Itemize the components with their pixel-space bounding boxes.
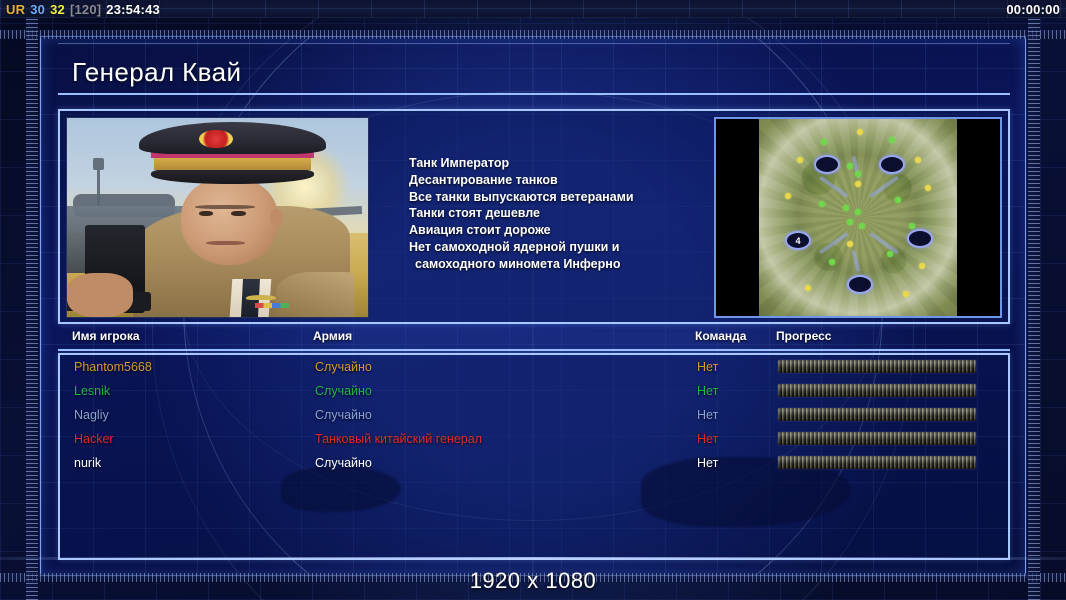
table-row[interactable]: NagliyСлучайноНет xyxy=(60,403,1008,427)
latency-value: 32 xyxy=(50,2,65,17)
frame-limit: [120] xyxy=(70,2,101,17)
resolution-label: 1920 x 1080 xyxy=(0,568,1066,594)
ur-label: UR xyxy=(6,2,25,17)
bonus-line: Нет самоходной ядерной пушки и xyxy=(409,239,739,256)
player-army: Случайно xyxy=(315,360,372,374)
player-name: Phantom5668 xyxy=(74,360,152,374)
player-progress-bar xyxy=(778,432,976,445)
portrait-brow xyxy=(195,205,255,209)
portrait-cap-band xyxy=(154,156,311,170)
map-start-position-4: 4 xyxy=(785,231,811,250)
player-name: Nagliy xyxy=(74,408,109,422)
portrait-shoulder xyxy=(276,272,354,317)
map-start-label: 4 xyxy=(795,236,800,246)
title-bar: Генерал Квай xyxy=(58,51,1010,95)
column-header-army: Армия xyxy=(313,329,352,343)
player-progress-bar xyxy=(778,456,976,469)
map-resource xyxy=(895,197,901,203)
column-header-progress: Прогресс xyxy=(776,329,831,343)
map-resource xyxy=(785,193,791,199)
map-start-position xyxy=(814,155,840,174)
portrait-hand xyxy=(67,273,133,317)
map-resource xyxy=(805,285,811,291)
map-resource xyxy=(855,209,861,215)
player-name: nurik xyxy=(74,456,101,470)
player-army: Случайно xyxy=(315,456,372,470)
portrait-eye-left xyxy=(199,211,213,216)
map-resource xyxy=(829,259,835,265)
bonus-line: Все танки выпускаются ветеранами xyxy=(409,189,739,206)
bonus-line: Десантирование танков xyxy=(409,172,739,189)
player-team: Нет xyxy=(697,408,718,422)
table-row[interactable]: Phantom5668СлучайноНет xyxy=(60,355,1008,379)
map-start-position xyxy=(847,275,873,294)
map-start-position xyxy=(907,229,933,248)
ruler-left xyxy=(26,18,38,600)
map-resource xyxy=(857,129,863,135)
page-title: Генерал Квай xyxy=(58,57,241,88)
player-rows: Phantom5668СлучайноНетLesnikСлучайноНетN… xyxy=(60,355,1008,475)
column-header-name: Имя игрока xyxy=(72,329,140,343)
map-resource xyxy=(909,223,915,229)
table-row[interactable]: LesnikСлучайноНет xyxy=(60,379,1008,403)
player-team: Нет xyxy=(697,384,718,398)
map-resource xyxy=(915,157,921,163)
portrait-cap-emblem xyxy=(199,130,232,148)
table-row[interactable]: HackerТанковый китайский генералНет xyxy=(60,427,1008,451)
portrait-ear xyxy=(270,209,283,227)
map-resource xyxy=(855,171,861,177)
map-resource xyxy=(847,241,853,247)
map-resource xyxy=(919,263,925,269)
map-resource xyxy=(889,137,895,143)
system-clock: 23:54:43 xyxy=(106,2,160,17)
player-army: Танковый китайский генерал xyxy=(315,432,482,446)
outer-frame: Генерал Квай xyxy=(0,18,1066,600)
portrait-wing-badge xyxy=(246,295,276,301)
player-list-header: Имя игрока Армия Команда Прогресс xyxy=(58,329,1010,351)
map-resource xyxy=(819,201,825,207)
map-resource xyxy=(855,181,861,187)
bonus-line: самоходного миномета Инферно xyxy=(409,256,739,273)
general-bonus-list: Танк Император Десантирование танков Все… xyxy=(409,155,739,273)
map-start-position xyxy=(879,155,905,174)
player-army: Случайно xyxy=(315,384,372,398)
table-row[interactable]: nurikСлучайноНет xyxy=(60,451,1008,475)
player-team: Нет xyxy=(697,360,718,374)
map-resource xyxy=(843,205,849,211)
column-header-team: Команда xyxy=(695,329,746,343)
player-progress-bar xyxy=(778,384,976,397)
map-resource xyxy=(925,185,931,191)
general-portrait xyxy=(66,117,369,318)
map-resource xyxy=(887,251,893,257)
footer-divider xyxy=(0,557,1066,560)
portrait-mouth xyxy=(206,241,245,245)
player-progress-bar xyxy=(778,360,976,373)
bonus-line: Авиация стоит дороже xyxy=(409,222,739,239)
map-resource xyxy=(821,139,827,145)
portrait-medal-bar xyxy=(255,303,290,309)
fps-value: 30 xyxy=(30,2,45,17)
elapsed-timer: 00:00:00 xyxy=(1006,2,1060,17)
top-status-bar: UR 30 32 [120] 23:54:43 00:00:00 xyxy=(0,0,1066,18)
player-name: Hacker xyxy=(74,432,114,446)
player-team: Нет xyxy=(697,456,718,470)
general-info-panel: Танк Император Десантирование танков Все… xyxy=(58,109,1010,324)
map-preview[interactable]: 4 xyxy=(714,117,1002,318)
status-left-group: UR 30 32 [120] 23:54:43 xyxy=(6,2,160,17)
map-resource xyxy=(847,219,853,225)
map-resource xyxy=(797,157,803,163)
bonus-line: Танк Император xyxy=(409,155,739,172)
map-terrain: 4 xyxy=(759,119,957,316)
map-resource xyxy=(903,291,909,297)
player-name: Lesnik xyxy=(74,384,110,398)
portrait-eye-right xyxy=(231,211,245,216)
title-rule xyxy=(58,43,1010,44)
player-army: Случайно xyxy=(315,408,372,422)
player-team: Нет xyxy=(697,432,718,446)
ruler-top xyxy=(0,30,1066,39)
map-resource xyxy=(859,223,865,229)
player-list: Phantom5668СлучайноНетLesnikСлучайноНетN… xyxy=(58,353,1010,560)
ruler-right xyxy=(1028,18,1040,600)
map-resource xyxy=(847,163,853,169)
bonus-line: Танки стоят дешевле xyxy=(409,205,739,222)
lobby-window: Генерал Квай xyxy=(40,36,1026,576)
player-progress-bar xyxy=(778,408,976,421)
portrait-face xyxy=(181,178,277,266)
